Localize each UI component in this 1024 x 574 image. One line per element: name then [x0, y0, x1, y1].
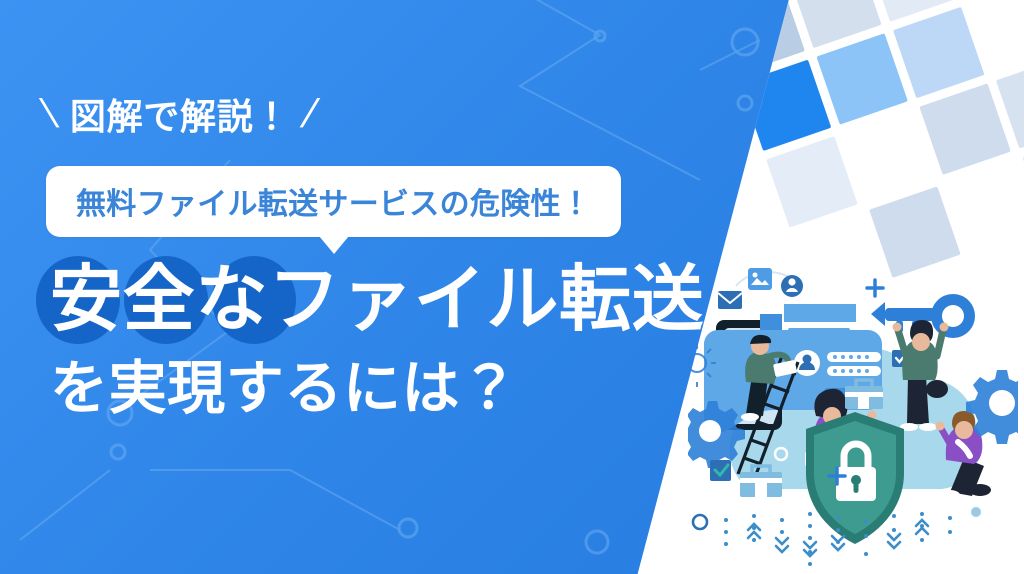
slash-right-icon: /	[298, 94, 323, 134]
grid-tile	[919, 83, 1011, 175]
eyebrow-text: 図解で解説！	[70, 88, 290, 140]
slash-left-icon: \	[38, 94, 63, 134]
headline-line1-text: 安全なファイル転送	[36, 252, 705, 348]
grid-tile	[843, 110, 935, 202]
subtitle-badge-text: 無料ファイル転送サービスの危険性！	[76, 188, 591, 221]
envelope-icon	[718, 291, 742, 309]
eyebrow: \ 図解で解説！ /	[44, 88, 316, 140]
grid-tile	[946, 160, 1024, 252]
headline-line2: を実現するには？	[36, 354, 696, 424]
grid-tile	[893, 7, 985, 99]
grid-tile	[766, 136, 858, 228]
cloud-security-illustration	[688, 264, 1018, 574]
person-icon	[781, 275, 803, 297]
headline-line1: 安全なファイル転送	[36, 252, 696, 348]
headline-line1-rest: ファイル転送	[268, 260, 704, 340]
text-content: \ 図解で解説！ / 無料ファイル転送サービスの危険性！ 安全なファイル転送 を…	[0, 0, 700, 574]
headline-highlighted-text: 安全な	[50, 260, 268, 340]
checkbox-icon	[710, 460, 731, 481]
banner-root: \ 図解で解説！ / 無料ファイル転送サービスの危険性！ 安全なファイル転送 を…	[0, 0, 1024, 574]
shield-padlock	[806, 412, 904, 544]
subtitle-badge: 無料ファイル転送サービスの危険性！	[46, 166, 621, 237]
grid-tile	[816, 33, 908, 125]
image-icon	[748, 268, 772, 290]
headline: 安全なファイル転送 を実現するには？	[36, 252, 696, 424]
